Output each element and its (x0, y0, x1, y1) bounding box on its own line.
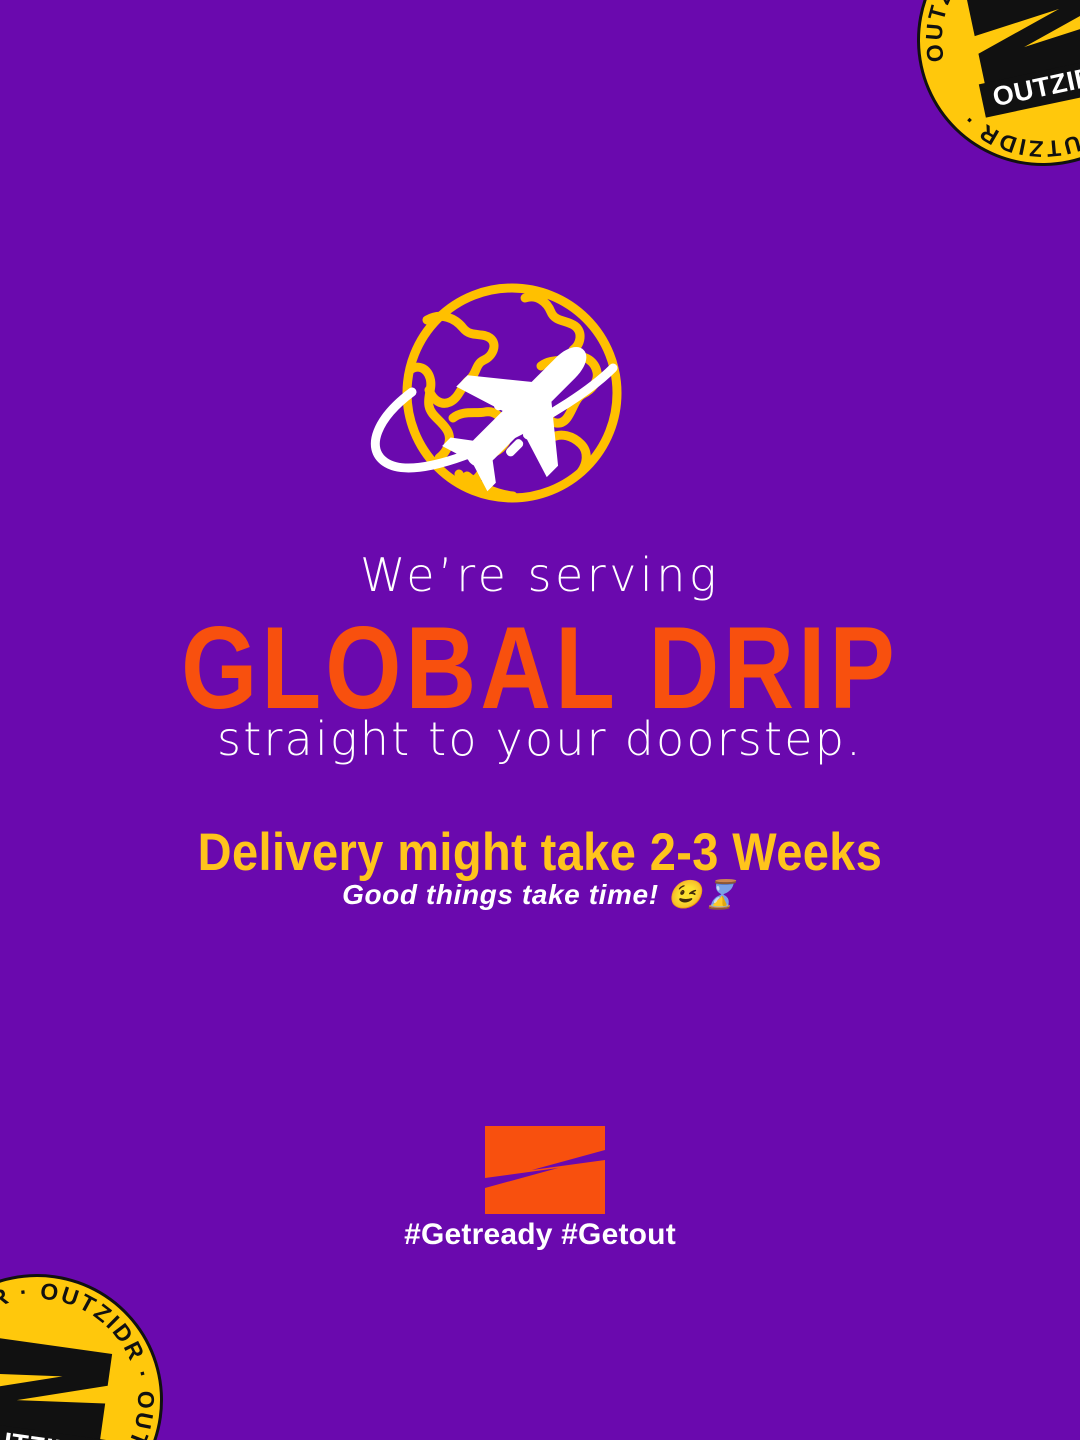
badge-ring-text: OUTZIDR · OUTZIDR · OUTZIDR · OUTZIDR · (0, 1262, 175, 1440)
headline-line-3: straight to your doorstep. (0, 714, 1080, 765)
headline-line-1: We’re serving (0, 550, 1080, 601)
poster-canvas: OUTZIDR · OUTZIDR · OUTZIDR · OUTZIDR · … (0, 0, 1080, 1440)
globe-airplane-illustration (355, 272, 705, 518)
badge-z-mark (0, 1335, 112, 1440)
svg-text:OUTZIDR: OUTZIDR (0, 1422, 95, 1440)
badge-wordmark: OUTZIDR (979, 54, 1080, 118)
brand-z-logo (485, 1126, 605, 1214)
delivery-subtext: Good things take time! 😉⌛ (0, 878, 1080, 912)
badge-ring-text: OUTZIDR · OUTZIDR · OUTZIDR · OUTZIDR · (898, 0, 1080, 185)
delivery-notice: Delivery might take 2-3 Weeks (0, 822, 1080, 883)
badge-z-mark (967, 0, 1080, 85)
outzidr-badge-bottom-left: OUTZIDR · OUTZIDR · OUTZIDR · OUTZIDR · … (0, 1255, 182, 1440)
svg-text:OUTZIDR: OUTZIDR (990, 57, 1080, 112)
outzidr-badge-top-right: OUTZIDR · OUTZIDR · OUTZIDR · OUTZIDR · … (891, 0, 1080, 192)
badge-wordmark: OUTZIDR (0, 1420, 106, 1440)
footer-hashtags: #Getready #Getout (0, 1218, 1080, 1252)
